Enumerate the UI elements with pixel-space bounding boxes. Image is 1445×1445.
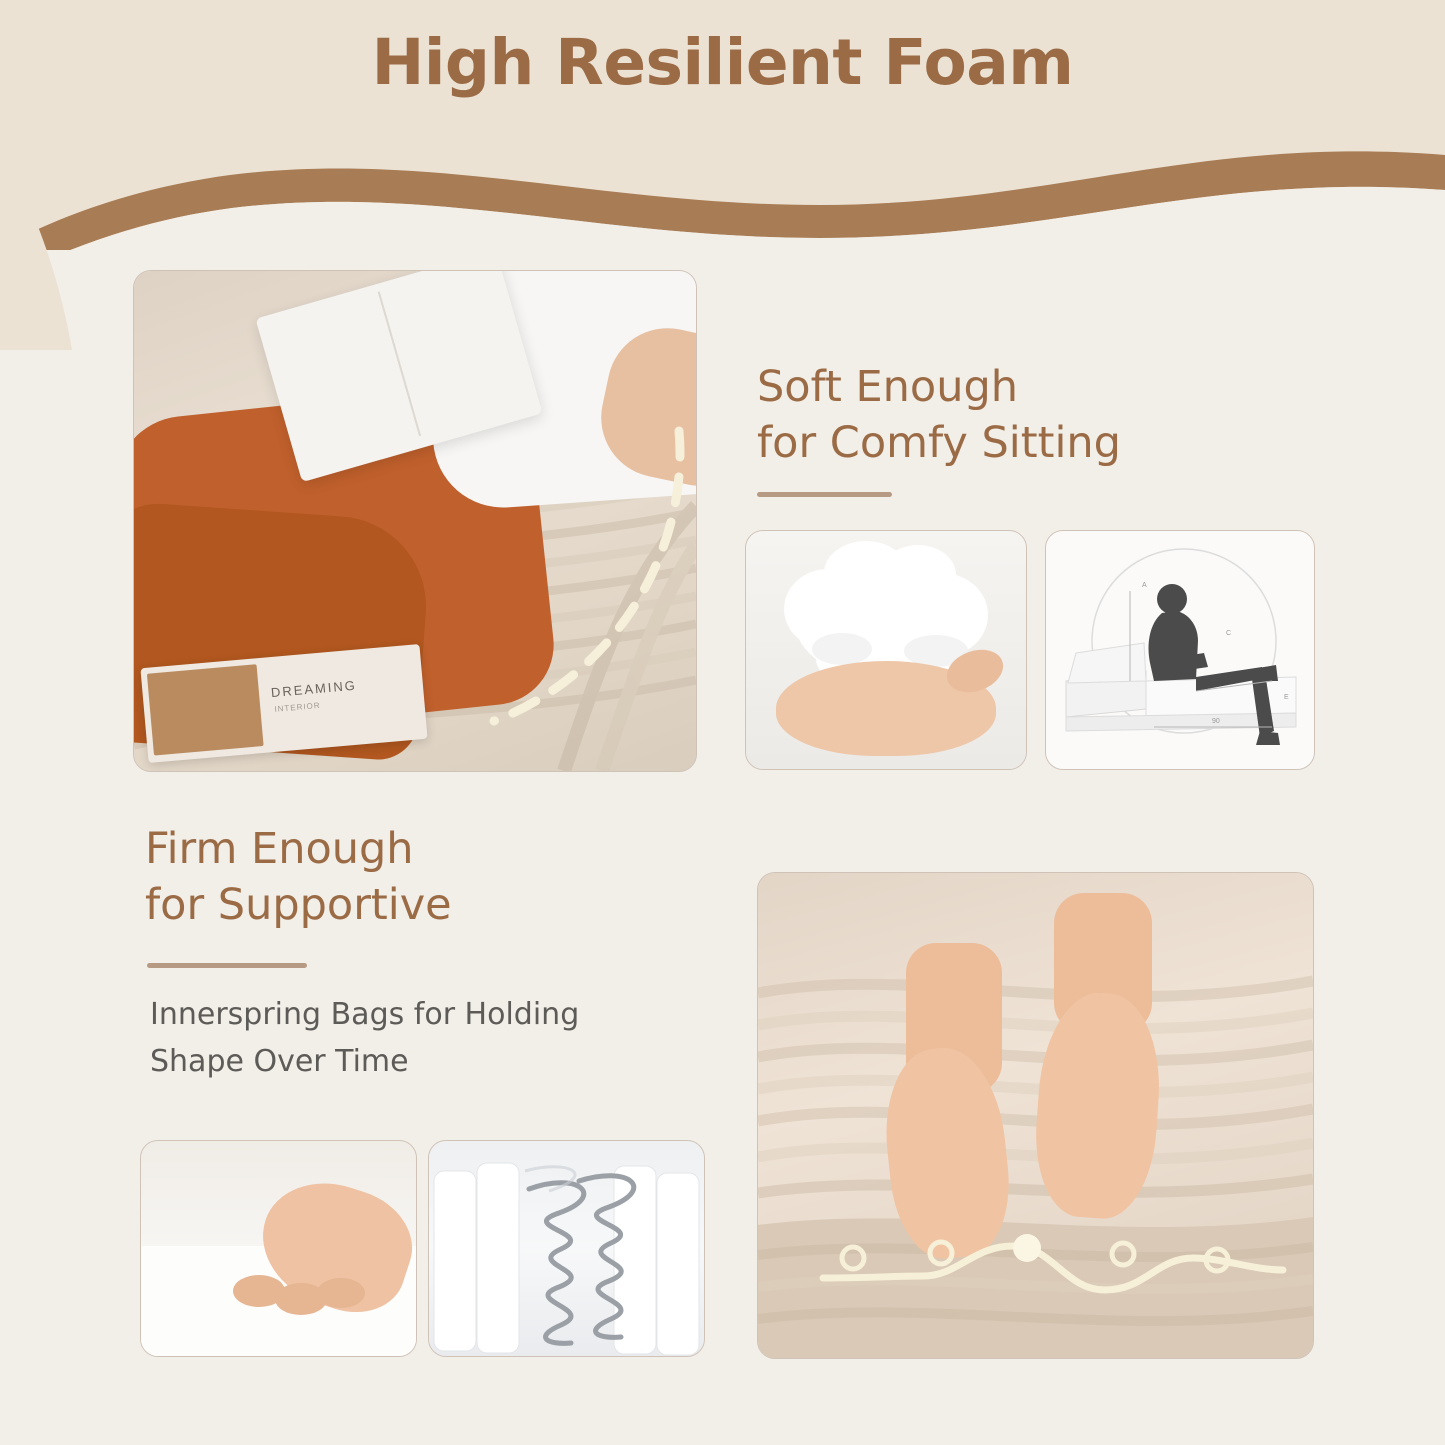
- svg-text:90: 90: [1212, 718, 1220, 725]
- magazine-subtitle: INTERIOR: [274, 701, 321, 714]
- image-pocket-innerspring-coils: [428, 1140, 705, 1357]
- promo-page: High Resilient Foam: [0, 0, 1445, 1445]
- svg-text:C: C: [1226, 630, 1231, 637]
- firm-subtext: Innerspring Bags for Holding Shape Over …: [150, 992, 750, 1085]
- page-title: High Resilient Foam: [0, 26, 1445, 99]
- curved-dashed-arc: [464, 421, 694, 751]
- image-hand-holding-fiber-fill: [745, 530, 1027, 770]
- firm-heading-rule: [147, 963, 307, 968]
- image-hand-pressing-foam: [140, 1140, 417, 1357]
- magazine-title: DREAMING: [270, 678, 357, 700]
- image-feet-standing-on-cushion: [757, 872, 1314, 1359]
- image-woman-reading-on-sofa: DREAMING INTERIOR: [133, 270, 697, 772]
- firm-heading: Firm Enough for Supportive: [145, 822, 705, 934]
- svg-text:E: E: [1284, 694, 1289, 701]
- coil-springs: [429, 1141, 704, 1356]
- image-ergonomic-seating-diagram: 90 A C E: [1045, 530, 1315, 770]
- soft-heading: Soft Enough for Comfy Sitting: [757, 360, 1317, 472]
- soft-heading-rule: [757, 492, 892, 497]
- resilience-wave-graphic: [813, 1218, 1293, 1308]
- seating-posture-diagram: 90 A C E: [1046, 531, 1314, 769]
- svg-text:A: A: [1142, 582, 1147, 589]
- finger-detail: [141, 1141, 416, 1356]
